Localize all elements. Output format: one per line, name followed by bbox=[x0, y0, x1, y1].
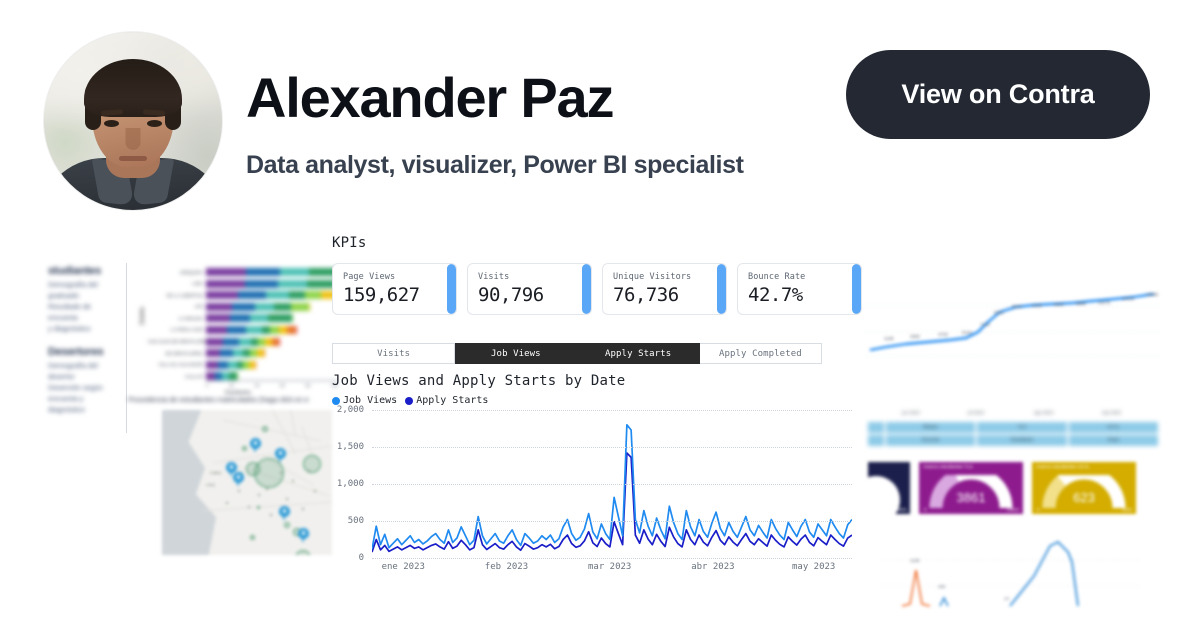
bar-segment bbox=[245, 280, 279, 288]
map-dot bbox=[266, 488, 268, 490]
map-dot bbox=[226, 502, 228, 504]
bar-segment bbox=[230, 314, 251, 322]
curve-data-label: 1139 bbox=[884, 336, 893, 341]
curve-data-label: 8843 bbox=[1012, 304, 1022, 309]
bar-segment bbox=[223, 338, 238, 346]
bar-category-label: LA MOLINA bbox=[148, 316, 206, 321]
curve-data-label: 8382 bbox=[994, 310, 1004, 315]
bar-segment bbox=[206, 314, 230, 322]
avatar-photo bbox=[44, 32, 222, 210]
bar-x-tick: 20 bbox=[229, 383, 234, 388]
bar-category-label: LIMA bbox=[148, 281, 206, 286]
map-dot bbox=[286, 498, 288, 500]
bar-segment bbox=[287, 326, 296, 334]
strip-date: ago 2023 bbox=[1034, 410, 1053, 415]
gauge-title: Avance estudiantes UCAL bbox=[1036, 465, 1090, 470]
y-tick-label: 500 bbox=[348, 516, 364, 526]
gauge-title: Avance estudiantes TLS bbox=[923, 465, 973, 470]
bar-category-label: LA PERLA SUR bbox=[148, 327, 206, 332]
bar-segment bbox=[251, 338, 258, 346]
kpi-card-unique-visitors[interactable]: Unique Visitors 76,736 bbox=[602, 263, 727, 315]
strip-cell: Estudiante bbox=[977, 435, 1066, 446]
curve-data-label: 9109 bbox=[1032, 303, 1042, 308]
kpi-value: 90,796 bbox=[478, 284, 581, 306]
kpi-value: 159,627 bbox=[343, 284, 446, 306]
bar-segment bbox=[309, 303, 310, 311]
tab-visits[interactable]: Visits bbox=[332, 343, 455, 364]
strip-date-row: jun 2023 jul 2023 ago 2023 sep 2023 bbox=[868, 410, 1158, 420]
bar-track bbox=[206, 314, 338, 322]
avatar-mouth bbox=[119, 156, 147, 161]
right-dashboard-panel: 1139200047335134712083828843910995009888… bbox=[862, 270, 1162, 630]
bar-segment bbox=[255, 303, 274, 311]
bar-chart-row: VILLA EL SALVADOR bbox=[148, 360, 338, 370]
bar-segment bbox=[206, 349, 220, 357]
strip-cell: UCAL bbox=[1069, 422, 1158, 433]
map-pin-icon[interactable] bbox=[250, 438, 261, 453]
bar-segment bbox=[250, 349, 257, 357]
strip-cell: Bloque bbox=[886, 422, 975, 433]
tab-apply-completed[interactable]: Apply Completed bbox=[700, 343, 822, 364]
bar-segment bbox=[279, 338, 280, 346]
map-road bbox=[202, 501, 332, 511]
left-sub-1: Demografía del graduado Resultado de enc… bbox=[48, 280, 112, 334]
view-on-contra-button[interactable]: View on Contra bbox=[846, 50, 1150, 139]
tab-apply-starts[interactable]: Apply Starts bbox=[578, 343, 700, 364]
bar-segment bbox=[238, 291, 266, 299]
map-dot bbox=[238, 490, 240, 492]
center-dashboard-panel: KPIs Page Views 159,627 Visits 90,796 Un… bbox=[332, 235, 862, 630]
bar-segment bbox=[291, 303, 308, 311]
strip-cell bbox=[868, 435, 884, 446]
map-dot bbox=[314, 490, 316, 492]
gridline bbox=[372, 484, 852, 485]
bar-segment bbox=[264, 349, 265, 357]
bar-chart-row: LA PERLA SUR bbox=[148, 325, 338, 335]
gridline bbox=[372, 410, 852, 411]
bar-track bbox=[206, 303, 338, 311]
bar-segment bbox=[243, 349, 250, 357]
kpi-value: 76,736 bbox=[613, 284, 716, 306]
left-sub-1-line-4: y diagnóstico bbox=[48, 324, 112, 335]
curve-data-label: 10415 bbox=[1122, 296, 1134, 301]
x-tick-label: mar 2023 bbox=[588, 562, 631, 572]
kpi-label: Visits bbox=[478, 272, 581, 282]
metric-tab-bar: Visits Job Views Apply Starts Apply Comp… bbox=[332, 343, 822, 364]
gauge-row: 23841 Avance estudiantes TLS 3861 0 1081… bbox=[868, 462, 1136, 514]
bar-category-label: DE LA LIBERTAD bbox=[148, 293, 206, 298]
curve-data-label: 10172 bbox=[1098, 300, 1110, 305]
x-tick-label: may 2023 bbox=[792, 562, 835, 572]
bar-segment bbox=[239, 338, 252, 346]
gauge-max: 10814 bbox=[1007, 507, 1019, 512]
bar-chart-x-ticks: 020406080100 bbox=[206, 383, 338, 388]
legend-swatch-icon bbox=[405, 397, 413, 405]
y-tick-label: 1,000 bbox=[337, 479, 364, 489]
map-bubble[interactable] bbox=[303, 455, 321, 473]
bar-segment bbox=[206, 268, 246, 276]
kpi-card-bounce-rate[interactable]: Bounce Rate 42.7% bbox=[737, 263, 862, 315]
legend-swatch-icon bbox=[332, 397, 340, 405]
left-sub-2-line-1: Demografía del bbox=[48, 361, 112, 372]
bar-segment bbox=[274, 303, 291, 311]
gridline bbox=[372, 558, 852, 559]
line-chart-y-axis: 05001,0001,5002,000 bbox=[332, 410, 368, 558]
left-sub-1-line-1: Demografía del bbox=[48, 280, 112, 291]
bar-segment bbox=[280, 268, 309, 276]
strip-date: sep 2023 bbox=[1102, 410, 1121, 415]
spark-label: 14 bbox=[1004, 596, 1009, 601]
nav-tile-value: 23841 bbox=[894, 507, 907, 512]
left-sub-2-line-4: encuesta y diagnóstico bbox=[48, 394, 112, 416]
kpi-accent-bar bbox=[852, 264, 861, 314]
line-chart-legend: Job Views Apply Starts bbox=[332, 395, 862, 406]
bar-segment bbox=[272, 338, 279, 346]
curve-data-label: 7120 bbox=[980, 322, 990, 327]
gauge-max: 2204 bbox=[1122, 507, 1132, 512]
bar-category-label: VILLA EL SALVADOR bbox=[148, 362, 206, 367]
line-chart-x-axis: ene 2023feb 2023mar 2023abr 2023may 2023 bbox=[372, 562, 852, 576]
strip-cell bbox=[868, 422, 884, 433]
bar-segment bbox=[232, 303, 255, 311]
map-bubble[interactable] bbox=[284, 522, 290, 528]
kpis-section-title: KPIs bbox=[332, 235, 862, 251]
page-title: Alexander Paz bbox=[246, 70, 613, 126]
bar-segment bbox=[258, 338, 265, 346]
map-dot bbox=[248, 506, 250, 508]
map-dot bbox=[258, 494, 260, 496]
map-bubble[interactable] bbox=[246, 462, 260, 476]
map-dot bbox=[270, 514, 272, 516]
bar-segment bbox=[268, 314, 292, 322]
bar-track bbox=[206, 280, 338, 288]
kpi-accent-bar bbox=[447, 264, 456, 314]
map-dot bbox=[308, 470, 310, 472]
bar-segment bbox=[255, 361, 256, 369]
curve-data-label: 5134 bbox=[962, 330, 972, 335]
bar-segment bbox=[206, 291, 238, 299]
avatar bbox=[44, 32, 222, 210]
spark-charts: 1138 182 14 bbox=[882, 532, 1142, 614]
bar-category-label: DE MIRAFLORES bbox=[148, 351, 206, 356]
strip-row-1[interactable]: Bloque TLS UCAL bbox=[868, 422, 1158, 433]
bar-chart-axis-label: Distrito bbox=[140, 307, 146, 325]
bar-segment bbox=[206, 303, 232, 311]
kpi-accent-bar bbox=[717, 264, 726, 314]
x-tick-label: abr 2023 bbox=[691, 562, 734, 572]
kpi-accent-bar bbox=[582, 264, 591, 314]
avatar-eye-right bbox=[147, 120, 162, 127]
bar-segment bbox=[246, 326, 262, 334]
left-sub-2-line-2: desertor bbox=[48, 372, 112, 383]
tab-job-views[interactable]: Job Views bbox=[455, 343, 577, 364]
strip-date: jun 2023 bbox=[902, 410, 920, 415]
curve-data-label: 2000 bbox=[910, 334, 920, 339]
bar-segment bbox=[206, 361, 218, 369]
profile-header: Alexander Paz Data analyst, visualizer, … bbox=[0, 0, 1200, 215]
legend-label: Apply Starts bbox=[416, 395, 488, 406]
map-bubble[interactable] bbox=[242, 446, 247, 451]
line-chart[interactable]: 05001,0001,5002,000 ene 2023feb 2023mar … bbox=[332, 410, 852, 580]
nav-tile[interactable]: 23841 bbox=[868, 462, 910, 514]
gauge-min: 0 bbox=[924, 507, 926, 512]
bar-chart-row: SAN JUAN DE MIRAFLORES bbox=[148, 337, 338, 347]
left-sub-1-line-3: Resultado de encuesta bbox=[48, 302, 112, 324]
map-bubble[interactable] bbox=[257, 506, 260, 509]
bar-chart-row: AREQUIPA bbox=[148, 267, 338, 277]
bar-segment bbox=[227, 326, 246, 334]
bar-chart-x-axis bbox=[206, 380, 338, 381]
bar-track bbox=[206, 326, 338, 334]
series-line-apply-starts bbox=[372, 453, 852, 552]
bar-segment bbox=[292, 314, 293, 322]
map-bubble[interactable] bbox=[262, 426, 268, 432]
strip-cell: Docente bbox=[886, 435, 975, 446]
gauge-min: 0 bbox=[1037, 507, 1039, 512]
map-road bbox=[288, 410, 296, 436]
bar-segment bbox=[218, 361, 228, 369]
bar-segment bbox=[305, 291, 321, 299]
map-dot bbox=[292, 480, 294, 482]
bar-segment bbox=[233, 349, 243, 357]
spark-label: 182 bbox=[938, 584, 945, 589]
x-tick-label: ene 2023 bbox=[382, 562, 425, 572]
bar-track bbox=[206, 291, 338, 299]
left-heading-desertores: Desertores bbox=[48, 346, 112, 358]
map-block: Procedencia de estudiantes matriculados … bbox=[128, 395, 340, 630]
left-sub-2: Demografía del desertor Deserción según … bbox=[48, 361, 112, 415]
stacked-bar-chart: Distrito AREQUIPALIMADE LA LIBERTADATELA… bbox=[138, 267, 338, 389]
line-chart-title: Job Views and Apply Starts by Date bbox=[332, 373, 862, 389]
curve-data-label: 9500 bbox=[1054, 302, 1064, 307]
bar-track bbox=[206, 361, 338, 369]
cumulative-curve-chart: 1139200047335134712083828843910995009888… bbox=[866, 270, 1158, 360]
bar-segment bbox=[289, 291, 305, 299]
gauge-value: 623 bbox=[1032, 490, 1136, 505]
kpi-card-visits[interactable]: Visits 90,796 bbox=[467, 263, 592, 315]
kpi-label: Page Views bbox=[343, 272, 446, 282]
bar-segment bbox=[220, 349, 232, 357]
line-chart-plot bbox=[372, 410, 852, 558]
bar-category-label: SAN JUAN DE MIRAFLORES bbox=[148, 339, 206, 344]
strip-date: jul 2023 bbox=[968, 410, 984, 415]
bar-segment bbox=[206, 338, 223, 346]
bar-category-label: CALLAO bbox=[148, 374, 206, 379]
bar-track bbox=[206, 268, 338, 276]
gridline bbox=[372, 447, 852, 448]
map-title: Procedencia de estudiantes matriculados … bbox=[128, 395, 340, 404]
left-dashboard-panel: studiantes Demografía del graduado Resul… bbox=[40, 265, 340, 630]
bar-track bbox=[206, 349, 338, 357]
bar-chart-row: DE MIRAFLORES bbox=[148, 348, 338, 358]
bar-segment bbox=[270, 326, 279, 334]
bar-x-tick: 40 bbox=[255, 383, 260, 388]
map-label-callao: Callao bbox=[210, 470, 221, 475]
curve-data-label: 9888 bbox=[1076, 301, 1086, 306]
kpi-card-page-views[interactable]: Page Views 159,627 bbox=[332, 263, 457, 315]
map-label-lima: Lima bbox=[206, 482, 215, 487]
bar-track bbox=[206, 338, 338, 346]
gridline bbox=[372, 521, 852, 522]
y-tick-label: 0 bbox=[359, 553, 364, 563]
bar-chart-rows: AREQUIPALIMADE LA LIBERTADATELA MOLINALA… bbox=[148, 267, 338, 383]
bar-segment bbox=[250, 314, 267, 322]
bar-segment bbox=[262, 326, 271, 334]
kpi-label: Unique Visitors bbox=[613, 272, 716, 282]
dashboard-preview: studiantes Demografía del graduado Resul… bbox=[0, 215, 1200, 630]
left-sub-2-line-3: Deserción según bbox=[48, 383, 112, 394]
bar-segment bbox=[246, 268, 280, 276]
bar-segment bbox=[265, 338, 272, 346]
y-tick-label: 1,500 bbox=[337, 442, 364, 452]
bar-segment bbox=[206, 326, 227, 334]
bar-chart-row: LA MOLINA bbox=[148, 313, 338, 323]
kpi-card-row: Page Views 159,627 Visits 90,796 Unique … bbox=[332, 263, 862, 315]
left-text-column: studiantes Demografía del graduado Resul… bbox=[48, 265, 112, 416]
map-dot bbox=[302, 508, 304, 510]
gauge-value: 3861 bbox=[919, 490, 1023, 505]
map-pin-icon[interactable] bbox=[279, 506, 290, 521]
bar-segment bbox=[228, 361, 237, 369]
bar-chart-row: DE LA LIBERTAD bbox=[148, 290, 338, 300]
bar-segment bbox=[279, 326, 288, 334]
bar-segment bbox=[206, 280, 245, 288]
strip-row-2[interactable]: Docente Estudiante Clase bbox=[868, 435, 1158, 446]
strip-cell: TLS bbox=[977, 422, 1066, 433]
gauge-card-ucal[interactable]: Avance estudiantes UCAL 623 0 2204 bbox=[1032, 462, 1136, 514]
map-bubble[interactable] bbox=[250, 535, 255, 540]
left-sub-1-line-2: graduado bbox=[48, 291, 112, 302]
spark-label: 1138 bbox=[910, 558, 919, 563]
bar-segment bbox=[278, 280, 306, 288]
y-tick-label: 2,000 bbox=[337, 405, 364, 415]
bar-chart-row: LIMA bbox=[148, 279, 338, 289]
kpi-label: Bounce Rate bbox=[748, 272, 851, 282]
gauge-card-tls[interactable]: Avance estudiantes TLS 3861 0 10814 bbox=[919, 462, 1023, 514]
legend-item-apply-starts[interactable]: Apply Starts bbox=[405, 395, 488, 406]
left-heading-estudiantes: studiantes bbox=[48, 265, 112, 277]
map-canvas[interactable]: Callao Lima bbox=[162, 410, 332, 555]
curve-data-label: 4733 bbox=[938, 332, 948, 337]
avatar-eye-left bbox=[104, 120, 119, 127]
bar-chart-row: ATE bbox=[148, 302, 338, 312]
cumulative-curve-svg bbox=[866, 270, 1158, 360]
map-pin-icon[interactable] bbox=[275, 448, 286, 463]
bar-x-tick: 60 bbox=[280, 383, 285, 388]
x-tick-label: feb 2023 bbox=[485, 562, 528, 572]
spark-svg bbox=[882, 532, 1142, 614]
map-pin-icon[interactable] bbox=[233, 472, 244, 487]
kpi-value: 42.7% bbox=[748, 284, 851, 306]
curve-data-label: 10896 bbox=[1146, 292, 1158, 297]
bar-category-label: ATE bbox=[148, 304, 206, 309]
bar-segment bbox=[266, 291, 289, 299]
map-dot bbox=[280, 472, 282, 474]
date-strip-table: jun 2023 jul 2023 ago 2023 sep 2023 Bloq… bbox=[868, 410, 1158, 455]
bar-x-tick: 80 bbox=[305, 383, 310, 388]
profile-tagline: Data analyst, visualizer, Power BI speci… bbox=[246, 152, 744, 180]
panel-divider bbox=[126, 263, 127, 433]
bar-segment bbox=[257, 349, 264, 357]
map-pin-icon[interactable] bbox=[298, 528, 309, 543]
avatar-nose bbox=[126, 128, 141, 150]
bar-x-tick: 0 bbox=[206, 383, 208, 388]
strip-cell: Clase bbox=[1069, 435, 1158, 446]
bar-segment bbox=[296, 326, 297, 334]
bar-category-label: AREQUIPA bbox=[148, 270, 206, 275]
